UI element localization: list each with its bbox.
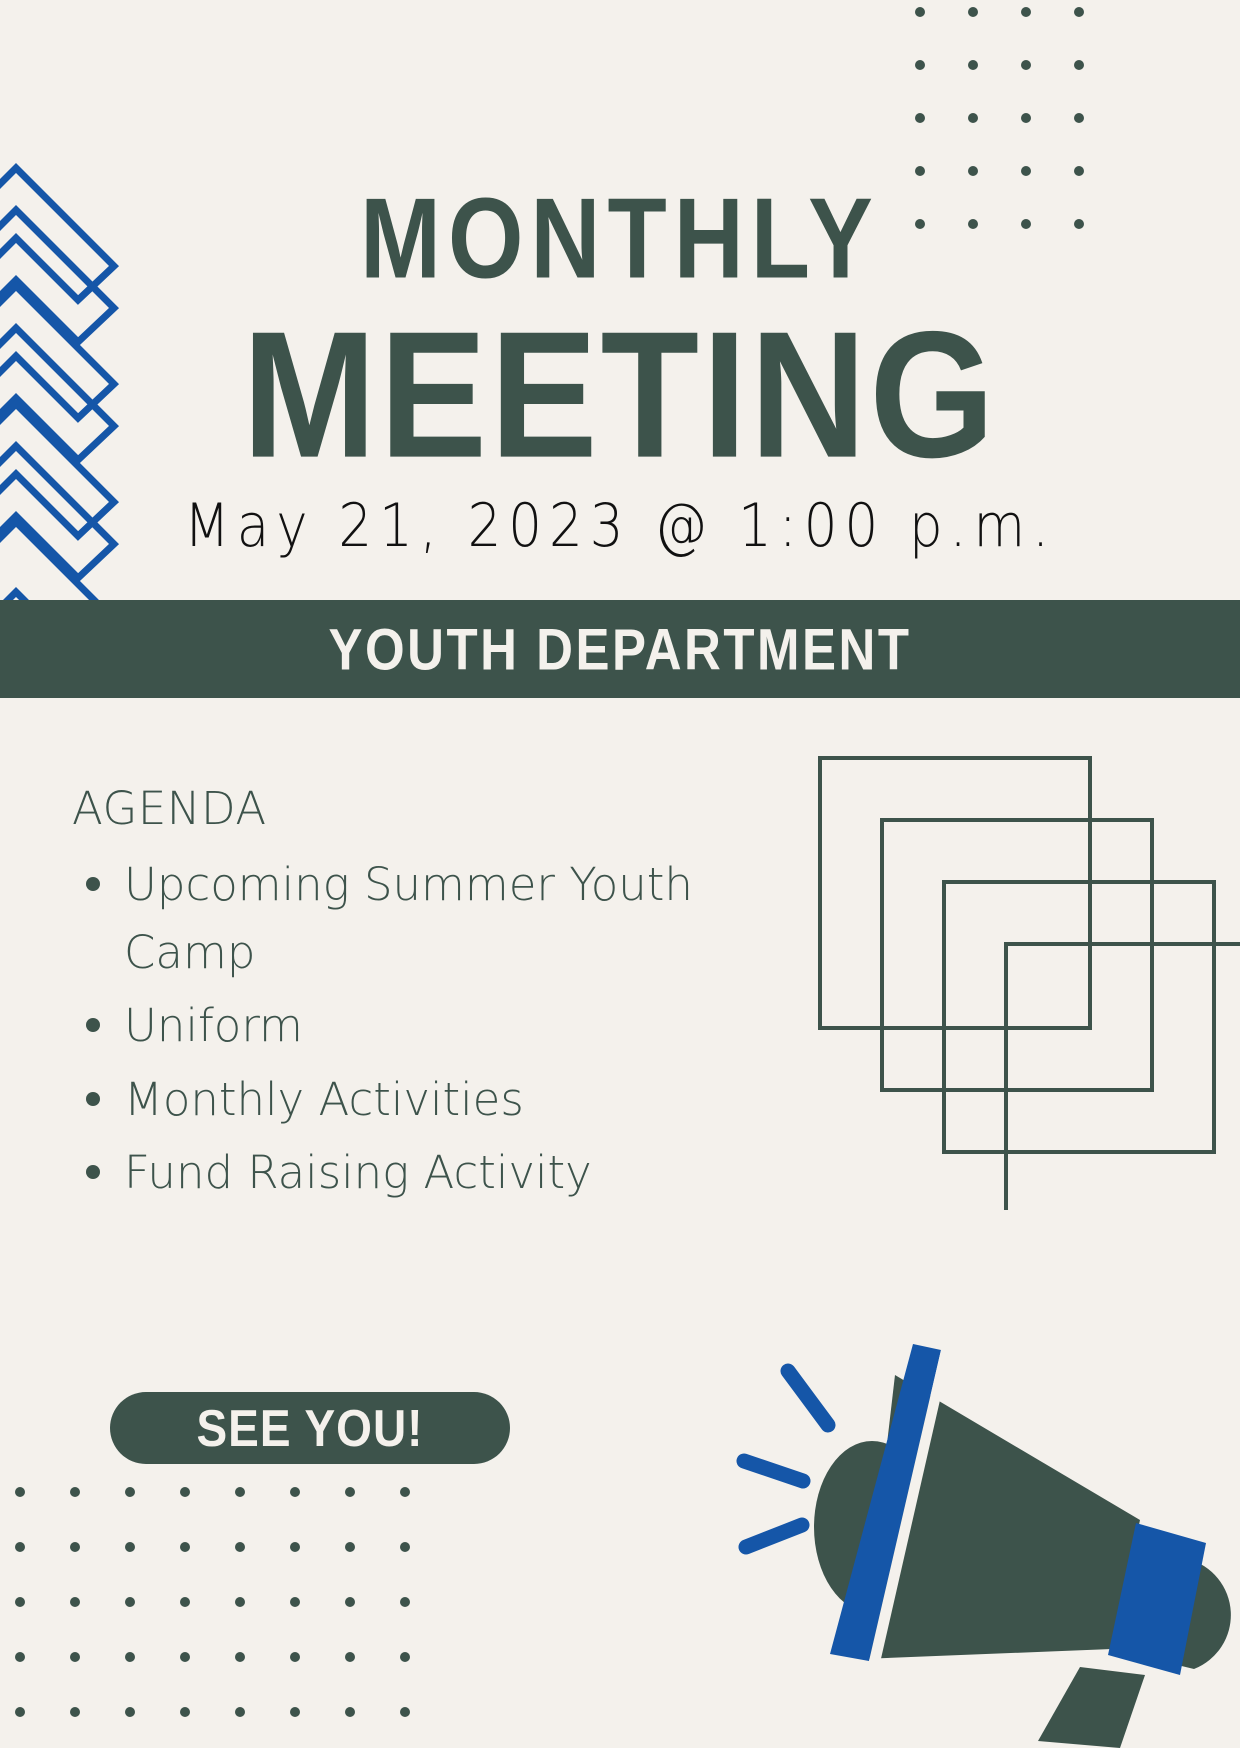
bullet-icon [86, 1092, 100, 1106]
bullet-icon [86, 1018, 100, 1032]
event-datetime: May 21, 2023 @ 1:00 p.m. [0, 492, 1240, 560]
agenda-item-label: Uniform [124, 999, 303, 1052]
agenda-item-label: Monthly Activities [124, 1073, 524, 1126]
agenda-item: Upcoming Summer Youth Camp [124, 851, 772, 986]
see-you-button-label: SEE YOU! [197, 1398, 424, 1458]
agenda-list: Upcoming Summer Youth CampUniformMonthly… [72, 851, 772, 1207]
agenda-item: Monthly Activities [124, 1066, 772, 1134]
megaphone-icon [640, 1175, 1240, 1748]
agenda-section: AGENDA Upcoming Summer Youth CampUniform… [72, 782, 772, 1213]
title-line-monthly: MONTHLY [0, 182, 1240, 294]
page-title: MONTHLY MEETING [0, 182, 1240, 463]
bullet-icon [86, 1165, 100, 1179]
agenda-item-label: Upcoming Summer Youth Camp [124, 858, 693, 979]
agenda-item: Uniform [124, 992, 772, 1060]
poster-canvas: MONTHLY MEETING May 21, 2023 @ 1:00 p.m.… [0, 0, 1240, 1748]
agenda-item-label: Fund Raising Activity [124, 1146, 592, 1199]
nested-squares-decoration [800, 730, 1240, 1210]
agenda-heading: AGENDA [72, 782, 772, 835]
department-banner-label: YOUTH DEPARTMENT [328, 615, 911, 683]
bullet-icon [86, 877, 100, 891]
department-banner: YOUTH DEPARTMENT [0, 600, 1240, 698]
see-you-button[interactable]: SEE YOU! [110, 1392, 510, 1464]
title-line-meeting: MEETING [0, 305, 1240, 485]
dot-grid-bottom-left [10, 1480, 430, 1748]
